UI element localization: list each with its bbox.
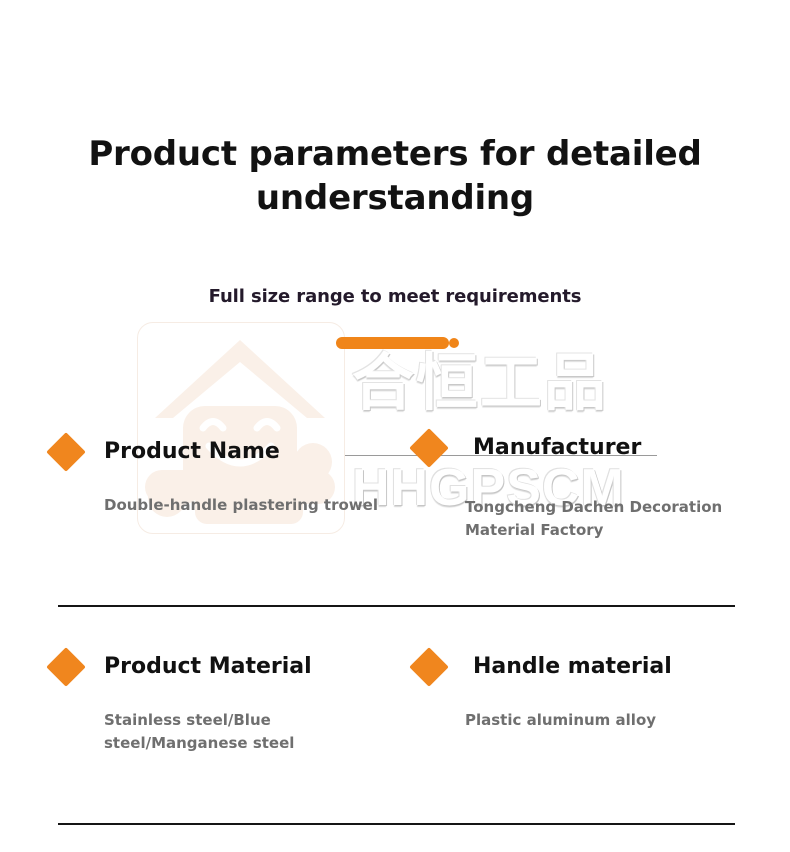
parameter-item-product-name: Product Name Double-handle plastering tr… — [52, 430, 412, 517]
parameter-value: Tongcheng Dachen Decoration Material Fac… — [465, 496, 765, 543]
parameter-head: Manufacturer — [415, 426, 780, 470]
parameter-item-product-material: Product Material Stainless steel/Blue st… — [52, 645, 412, 756]
page-subtitle: Full size range to meet requirements — [0, 286, 790, 307]
parameter-label: Product Name — [104, 430, 280, 474]
parameter-value: Stainless steel/Blue steel/Manganese ste… — [104, 709, 394, 756]
diamond-bullet-icon — [46, 432, 86, 472]
section-divider — [58, 605, 735, 607]
diamond-bullet-icon — [409, 428, 449, 468]
parameter-item-handle-material: Handle material Plastic aluminum alloy — [415, 645, 780, 732]
parameter-value: Plastic aluminum alloy — [465, 709, 765, 732]
parameter-item-manufacturer: Manufacturer Tongcheng Dachen Decoration… — [415, 426, 780, 543]
page-title: Product parameters for detailed understa… — [0, 133, 790, 220]
parameter-head: Product Name — [52, 430, 412, 476]
parameter-value: Double-handle plastering trowel — [104, 494, 394, 517]
product-parameters-page: 合恒工品 HHGPSCM Product parameters for deta… — [0, 0, 790, 852]
diamond-bullet-icon — [46, 647, 86, 687]
parameter-head: Product Material — [52, 645, 412, 691]
parameter-head: Handle material — [415, 645, 780, 691]
parameter-label: Manufacturer — [473, 426, 641, 470]
parameter-label: Handle material — [473, 645, 672, 689]
content-layer: Product parameters for detailed understa… — [0, 0, 790, 852]
section-divider — [58, 823, 735, 825]
parameter-label: Product Material — [104, 645, 312, 689]
diamond-bullet-icon — [409, 647, 449, 687]
